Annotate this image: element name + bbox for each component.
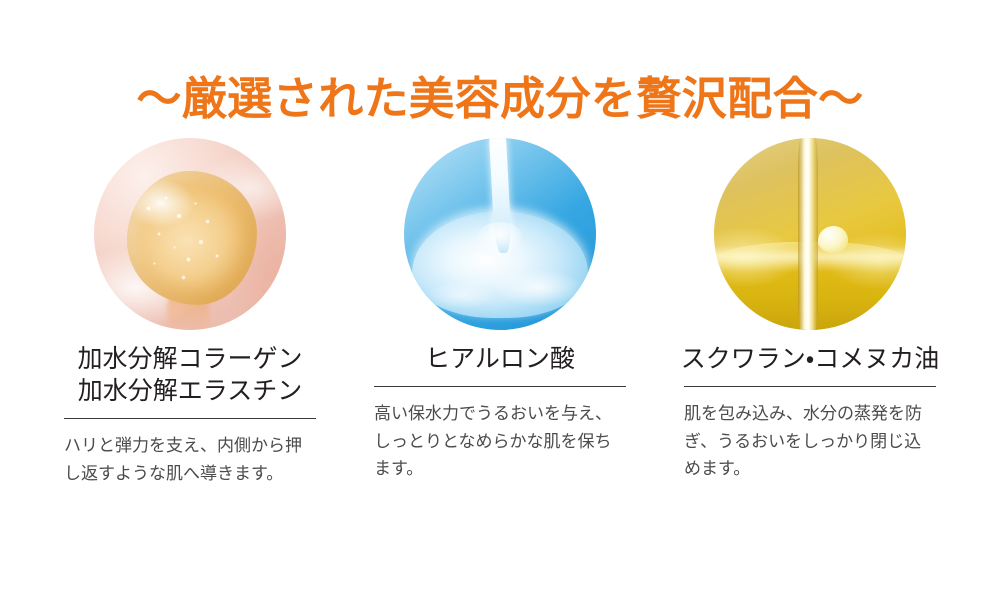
ingredient-columns: 加水分解コラーゲン 加水分解エラスチン ハリと弾力を支え、内側から押し返すような…: [0, 138, 1000, 504]
ingredient-highlight-banner: 〜厳選された美容成分を贅沢配合〜 加水分解コラーゲン 加水分解エラスチン ハリと…: [0, 0, 1000, 590]
ingredient-name-hyaluronic: ヒアルロン酸: [425, 344, 575, 376]
ingredient-card-squalane: スクワラン・コメヌカ油 肌を包み込み、水分の蒸発を防ぎ、うるおいをしっかり閉じ込…: [655, 138, 965, 500]
ingredient-description-collagen: ハリと弾力を支え、内側から押し返すような肌へ導きます。: [64, 432, 316, 487]
card-divider: [684, 386, 936, 387]
photo-gloss-highlight: [714, 138, 906, 330]
photo-gloss-highlight: [404, 138, 596, 330]
ingredient-description-squalane: 肌を包み込み、水分の蒸発を防ぎ、うるおいをしっかり閉じ込めます。: [684, 400, 936, 483]
squalane-rice-bran-oil-photo: [714, 138, 906, 330]
collagen-gel-droplet-photo: [94, 138, 286, 330]
card-divider: [64, 418, 316, 419]
page-title: 〜厳選された美容成分を贅沢配合〜: [0, 74, 1000, 124]
ingredient-name-line-1: 加水分解コラーゲン: [77, 344, 302, 376]
ingredient-name-line-2: 加水分解エラスチン: [77, 376, 302, 408]
ingredient-description-hyaluronic: 高い保水力でうるおいを与え、しっとりとなめらかな肌を保ちます。: [374, 400, 626, 483]
ingredient-card-hyaluronic: ヒアルロン酸 高い保水力でうるおいを与え、しっとりとなめらかな肌を保ちます。: [345, 138, 655, 500]
ingredient-name-collagen: 加水分解コラーゲン 加水分解エラスチン: [77, 344, 302, 408]
ingredient-card-collagen: 加水分解コラーゲン 加水分解エラスチン ハリと弾力を支え、内側から押し返すような…: [35, 138, 345, 504]
ingredient-name-line-1: スクワラン・コメヌカ油: [681, 344, 940, 376]
gel-bubbles: [132, 188, 247, 292]
ingredient-name-squalane: スクワラン・コメヌカ油: [681, 344, 940, 376]
hyaluronic-acid-blue-liquid-photo: [404, 138, 596, 330]
ingredient-name-line-1: ヒアルロン酸: [425, 344, 575, 376]
card-divider: [374, 386, 626, 387]
